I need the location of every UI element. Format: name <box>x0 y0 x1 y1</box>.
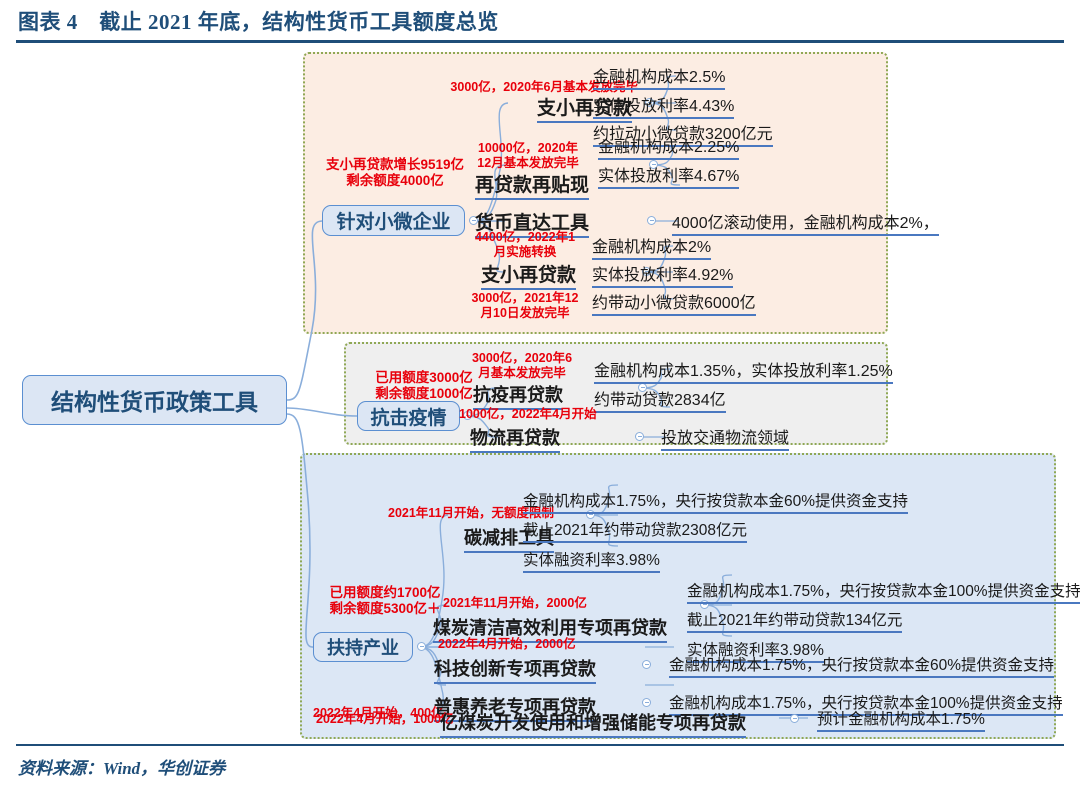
item-note-covid-1: 3000亿，2020年6 月基本发放完毕 <box>462 351 582 381</box>
collapse-dot-industry-5[interactable] <box>790 714 799 723</box>
page-title: 图表 4 截止 2021 年底，结构性货币工具额度总览 <box>18 6 499 36</box>
leaf-covid-2-1: 投放交通物流领域 <box>661 424 789 451</box>
item-label-micro-4[interactable]: 支小再贷款 <box>481 260 576 290</box>
branch-node-covid-label: 抗击疫情 <box>370 403 446 430</box>
branch-note-industry: 已用额度约1700亿 剩余额度5300亿＋ <box>305 585 465 617</box>
source-note: 资料来源：Wind，华创证券 <box>18 754 225 779</box>
item-note-industry-2: 2021年11月开始，2000亿 <box>443 596 643 611</box>
leaf-micro-1-2: 实体投放利率4.43% <box>593 92 734 119</box>
item-label-industry-5[interactable]: 亿煤炭开发使用和增强储能专项再贷款 <box>440 709 746 738</box>
collapse-dot-industry[interactable] <box>417 642 426 651</box>
item-note-micro-4-a: 4400亿，2022年1 月实施转换 <box>465 230 585 260</box>
branch-node-micro-enterprise[interactable]: 针对小微企业 <box>322 205 465 236</box>
collapse-dot-micro-3[interactable] <box>647 216 656 225</box>
leaf-industry-2-1: 金融机构成本1.75%，央行按贷款本金100%提供资金支持 <box>687 579 1080 604</box>
leaf-micro-4-1: 金融机构成本2% <box>592 233 711 260</box>
figure-header: 图表 4 截止 2021 年底，结构性货币工具额度总览 <box>0 0 1080 44</box>
item-label-covid-1[interactable]: 抗疫再贷款 <box>473 381 563 410</box>
leaf-covid-1-1: 金融机构成本1.35%，实体投放利率1.25% <box>594 357 893 384</box>
collapse-dot-industry-4[interactable] <box>642 698 651 707</box>
item-label-micro-2[interactable]: 再贷款再贴现 <box>475 170 589 200</box>
branch-node-industry[interactable]: 扶持产业 <box>313 632 413 662</box>
branch-node-covid[interactable]: 抗击疫情 <box>357 401 460 431</box>
branch-note-micro: 支小再贷款增长9519亿 剩余额度4000亿 <box>307 157 483 189</box>
leaf-micro-4-2: 实体投放利率4.92% <box>592 261 733 288</box>
branch-node-industry-label: 扶持产业 <box>327 634 399 660</box>
item-label-covid-2[interactable]: 物流再贷款 <box>470 424 560 453</box>
branch-node-micro-label: 针对小微企业 <box>336 207 450 234</box>
item-label-industry-3[interactable]: 科技创新专项再贷款 <box>434 655 596 684</box>
root-node-label: 结构性货币政策工具 <box>51 383 258 417</box>
leaf-micro-4-3: 约带动小微贷款6000亿 <box>592 289 756 316</box>
leaf-industry-2-2: 截止2021年约带动贷款134亿元 <box>687 608 902 633</box>
leaf-industry-1-3: 实体融资利率3.98% <box>523 548 660 573</box>
collapse-dot-industry-3[interactable] <box>642 660 651 669</box>
footer-divider <box>16 744 1064 746</box>
header-divider <box>16 40 1064 43</box>
leaf-industry-5-1: 预计金融机构成本1.75% <box>817 707 985 732</box>
item-note-micro-2: 10000亿，2020年 12月基本发放完毕 <box>468 141 588 171</box>
item-note-covid-2: 1000亿，2022年4月开始 <box>459 407 619 422</box>
leaf-industry-1-2: 截止2021年约带动贷款2308亿元 <box>523 518 747 543</box>
leaf-micro-1-1: 金融机构成本2.5% <box>593 63 725 90</box>
item-note-industry-3: 2022年4月开始，2000亿 <box>438 637 638 652</box>
item-note-micro-4-b: 3000亿，2021年12 月10日发放完毕 <box>460 291 590 321</box>
leaf-industry-1-1: 金融机构成本1.75%，央行按贷款本金60%提供资金支持 <box>523 489 908 514</box>
root-node[interactable]: 结构性货币政策工具 <box>22 375 287 425</box>
leaf-industry-3-1: 金融机构成本1.75%，央行按贷款本金60%提供资金支持 <box>669 653 1054 678</box>
collapse-dot-covid-2[interactable] <box>635 432 644 441</box>
leaf-micro-3-1: 4000亿滚动使用，金融机构成本2%， <box>672 209 939 236</box>
leaf-micro-2-2: 实体投放利率4.67% <box>598 162 739 189</box>
leaf-micro-2-1: 金融机构成本2.25% <box>598 133 739 160</box>
